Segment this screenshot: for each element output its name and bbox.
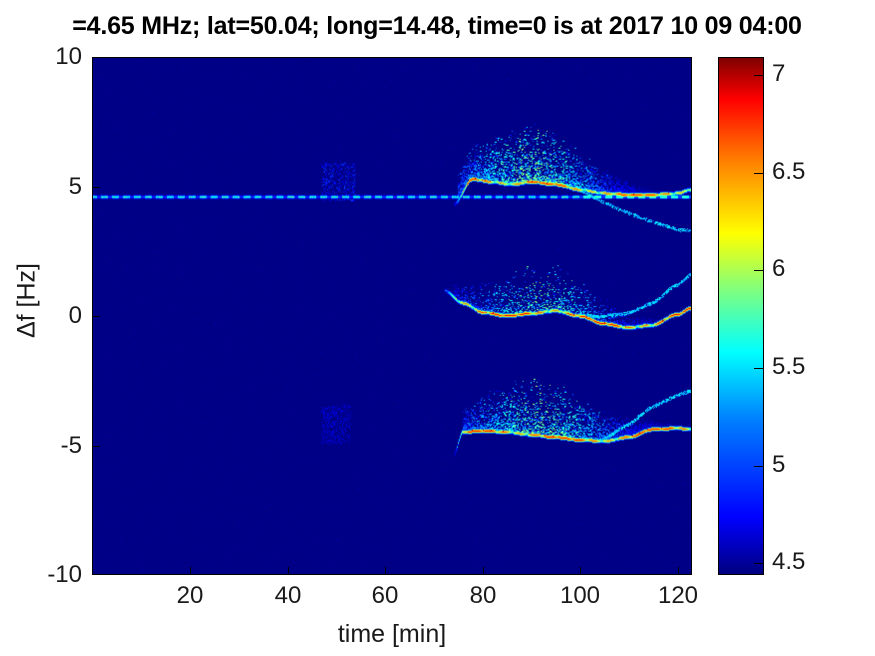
colorbar-label-6p5: 6.5	[772, 160, 805, 184]
xtick-label-80: 80	[443, 584, 523, 608]
xtick-mark-40	[288, 567, 289, 575]
colorbar-tick-mark-4p5	[754, 563, 763, 564]
spectrogram-image	[93, 58, 691, 574]
figure-title: =4.65 MHz; lat=50.04; long=14.48, time=0…	[0, 12, 875, 41]
colorbar-label-4p5: 4.5	[772, 550, 805, 574]
colorbar-label-5p5: 5.5	[772, 355, 805, 379]
ytick-mark-0	[92, 316, 100, 317]
xtick-label-100: 100	[540, 584, 620, 608]
ytick-mark-10	[92, 57, 100, 58]
colorbar-tick-mark-5p5	[754, 368, 763, 369]
xtick-label-20: 20	[150, 584, 230, 608]
spectrogram-axes[interactable]	[92, 57, 692, 575]
ytick-label-5: 5	[69, 175, 82, 199]
xtick-label-60: 60	[345, 584, 425, 608]
ytick-label-0: 0	[69, 304, 82, 328]
colorbar-tick-mark-6p5	[754, 173, 763, 174]
colorbar-label-7: 7	[772, 62, 785, 86]
colorbar-label-6: 6	[772, 257, 785, 281]
ytick-mark-5	[92, 187, 100, 188]
ytick-label-m10: -10	[47, 563, 82, 587]
xtick-mark-20	[190, 567, 191, 575]
y-axis-label: Δf [Hz]	[13, 231, 42, 371]
xtick-mark-120	[678, 567, 679, 575]
ytick-label-m5: -5	[61, 434, 82, 458]
ytick-mark-m10	[92, 574, 100, 575]
xtick-label-40: 40	[248, 584, 328, 608]
ytick-label-10: 10	[55, 45, 82, 69]
xtick-mark-60	[385, 567, 386, 575]
colorbar-label-5: 5	[772, 453, 785, 477]
ytick-mark-m5	[92, 446, 100, 447]
colorbar-tick-mark-7	[754, 75, 763, 76]
xtick-mark-80	[483, 567, 484, 575]
xtick-label-120: 120	[638, 584, 718, 608]
x-axis-label: time [min]	[92, 620, 692, 649]
figure-canvas: =4.65 MHz; lat=50.04; long=14.48, time=0…	[0, 0, 875, 656]
colorbar-tick-mark-6	[754, 270, 763, 271]
xtick-mark-100	[580, 567, 581, 575]
colorbar-tick-mark-5	[754, 466, 763, 467]
colorbar[interactable]	[718, 57, 764, 575]
